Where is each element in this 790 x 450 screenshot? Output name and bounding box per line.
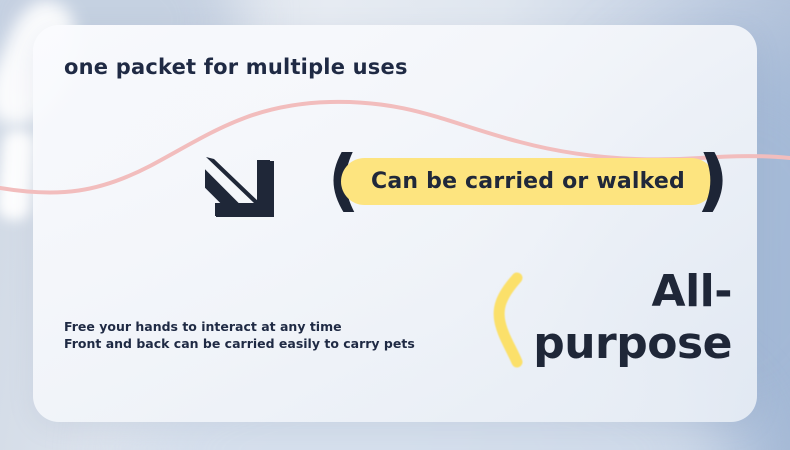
yellow-curve-bracket-icon [487, 272, 531, 368]
badge-pill[interactable]: Can be carried or walked [341, 158, 715, 205]
keyword-line-2: purpose [533, 318, 732, 370]
arrow-down-right-icon [205, 150, 277, 220]
badge-carried-or-walked[interactable]: ( Can be carried or walked ) [327, 152, 729, 212]
feature-line-1: Free your hands to interact at any time [64, 318, 415, 335]
keyword-line-1: All- [533, 266, 732, 318]
feature-list: Free your hands to interact at any time … [64, 318, 415, 352]
badge-label: Can be carried or walked [371, 169, 685, 194]
keyword-block: All- purpose [533, 266, 732, 370]
feature-line-2: Front and back can be carried easily to … [64, 335, 415, 352]
promo-banner: one packet for multiple uses ( Can be ca… [0, 0, 790, 450]
page-title: one packet for multiple uses [64, 55, 408, 79]
badge-right-bracket: ) [695, 152, 729, 212]
